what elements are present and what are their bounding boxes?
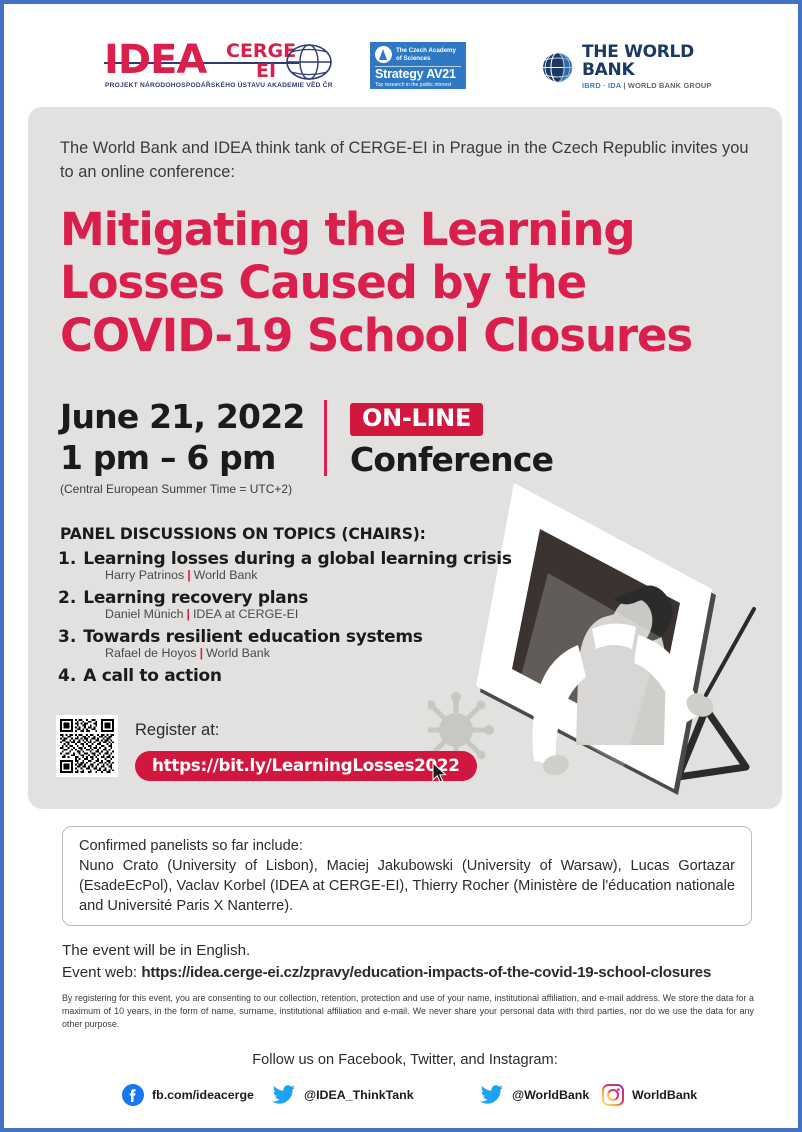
social-handle: @IDEA_ThinkTank: [304, 1088, 414, 1102]
panel-title: Learning recovery plans: [83, 588, 308, 608]
date-divider: [324, 400, 327, 476]
event-date-block: June 21, 2022 1 pm – 6 pm (Central Europ…: [60, 397, 305, 496]
panel-title: A call to action: [83, 666, 221, 686]
conference-label: Conference: [350, 440, 553, 479]
czech-academy-line-2: of Sciences: [396, 55, 456, 63]
panel-number: 3.: [58, 627, 76, 647]
panel-chair-name: Daniel Münich: [105, 607, 184, 621]
event-language-note: The event will be in English.: [62, 942, 250, 959]
world-bank-globe-icon: [541, 51, 574, 84]
world-bank-ibrd-ida: IBRD · IDA: [582, 81, 621, 90]
facebook-icon: [122, 1084, 144, 1106]
idea-cerge-ei-logo: IDEA CERGE EI PROJEKT NÁRODOHOSPODÁŘSKÉH…: [104, 32, 334, 94]
event-date: June 21, 2022: [60, 397, 305, 438]
panels-list: 1. Learning losses during a global learn…: [58, 549, 528, 689]
register-link[interactable]: https://bit.ly/LearningLosses2022: [135, 751, 477, 781]
panel-chair: Harry Patrinos|World Bank: [105, 568, 528, 582]
event-timezone-note: (Central European Summer Time = UTC+2): [60, 482, 305, 496]
follow-us-line: Follow us on Facebook, Twitter, and Inst…: [4, 1052, 802, 1068]
panel-item: 4. A call to action: [58, 666, 528, 686]
czech-academy-emblem-icon: [375, 46, 392, 63]
register-label: Register at:: [135, 721, 219, 740]
panel-number: 1.: [58, 549, 76, 569]
czech-academy-strategy-av21-logo: The Czech Academy of Sciences Strategy A…: [370, 42, 466, 89]
panel-chair-affiliation: World Bank: [206, 646, 270, 660]
idea-logo-subtitle: PROJEKT NÁRODOHOSPODÁŘSKÉHO ÚSTAVU AKADE…: [105, 82, 333, 89]
social-link-facebook[interactable]: fb.com/ideacerge: [122, 1084, 254, 1106]
social-handle: @WorldBank: [512, 1088, 589, 1102]
world-bank-subtitle: IBRD · IDA | WORLD BANK GROUP: [582, 81, 727, 90]
panel-item: 3. Towards resilient education systems R…: [58, 627, 528, 660]
pointer-stick: [706, 609, 754, 695]
qr-code-image: [60, 719, 114, 773]
panel-item: 1. Learning losses during a global learn…: [58, 549, 528, 582]
panel-title: Towards resilient education systems: [83, 627, 422, 647]
twitter-icon: [480, 1084, 504, 1106]
panelists-body: Nuno Crato (University of Lisbon), Macie…: [79, 857, 735, 917]
panels-heading: PANEL DISCUSSIONS ON TOPICS (CHAIRS):: [60, 525, 426, 543]
panel-chair-affiliation: World Bank: [194, 568, 258, 582]
registration-qr-code[interactable]: [56, 715, 118, 777]
poster-page: IDEA CERGE EI PROJEKT NÁRODOHOSPODÁŘSKÉH…: [0, 0, 802, 1132]
social-links-row: fb.com/ideacerge @IDEA_ThinkTank @WorldB…: [122, 1084, 702, 1110]
social-link-twitter-worldbank[interactable]: @WorldBank: [480, 1084, 589, 1106]
main-content-panel: The World Bank and IDEA think tank of CE…: [28, 107, 782, 809]
logo-bar: IDEA CERGE EI PROJEKT NÁRODOHOSPODÁŘSKÉH…: [8, 18, 802, 98]
online-badge: ON-LINE: [350, 403, 483, 436]
event-web-url[interactable]: https://idea.cerge-ei.cz/zpravy/educatio…: [141, 964, 711, 981]
chair-separator: |: [184, 607, 193, 621]
panel-chair: Rafael de Hoyos|World Bank: [105, 646, 528, 660]
event-web-line: Event web: https://idea.cerge-ei.cz/zpra…: [62, 964, 711, 981]
instagram-icon: [602, 1084, 624, 1106]
mouse-cursor-icon: [432, 762, 447, 783]
panel-chair-affiliation: IDEA at CERGE-EI: [193, 607, 298, 621]
panel-item: 2. Learning recovery plans Daniel Münich…: [58, 588, 528, 621]
world-bank-group-label: WORLD BANK GROUP: [628, 81, 712, 90]
chair-separator: |: [197, 646, 206, 660]
chair-separator: |: [184, 568, 193, 582]
panelists-box: Confirmed panelists so far include: Nuno…: [62, 826, 752, 926]
idea-logo-wordmark: IDEA: [104, 40, 206, 80]
social-handle: WorldBank: [632, 1088, 697, 1102]
globe-icon: [282, 38, 336, 86]
social-link-instagram[interactable]: WorldBank: [602, 1084, 697, 1106]
panelists-heading: Confirmed panelists so far include:: [79, 838, 735, 854]
world-bank-logo: THE WORLD BANK IBRD · IDA | WORLD BANK G…: [541, 48, 727, 86]
event-web-label: Event web:: [62, 964, 141, 981]
panel-number: 4.: [58, 666, 76, 686]
panel-number: 2.: [58, 588, 76, 608]
twitter-icon: [272, 1084, 296, 1106]
page-title: Mitigating the Learning Losses Caused by…: [60, 203, 760, 362]
event-time: 1 pm – 6 pm: [60, 438, 305, 479]
intro-paragraph: The World Bank and IDEA think tank of CE…: [60, 137, 750, 185]
world-bank-name: THE WORLD BANK: [582, 44, 727, 80]
panel-chair: Daniel Münich|IDEA at CERGE-EI: [105, 607, 528, 621]
privacy-disclaimer: By registering for this event, you are c…: [62, 992, 754, 1031]
strategy-av21-label: Strategy AV21: [375, 68, 461, 81]
idea-logo-ei: EI: [256, 62, 276, 82]
panel-title: Learning losses during a global learning…: [83, 549, 511, 569]
czech-academy-line-1: The Czech Academy: [396, 47, 456, 55]
social-handle: fb.com/ideacerge: [152, 1088, 254, 1102]
panel-chair-name: Harry Patrinos: [105, 568, 184, 582]
social-link-twitter-idea[interactable]: @IDEA_ThinkTank: [272, 1084, 414, 1106]
panel-chair-name: Rafael de Hoyos: [105, 646, 197, 660]
strategy-av21-tagline: Top research in the public interest: [375, 82, 461, 88]
